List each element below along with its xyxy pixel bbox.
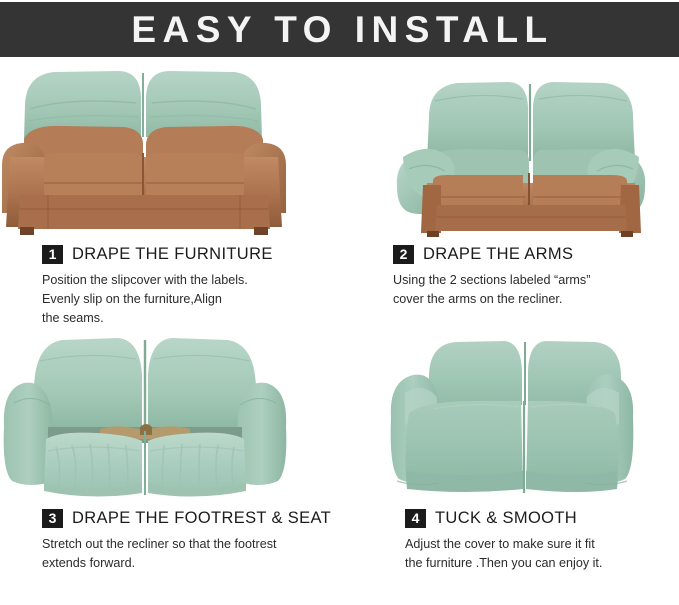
step-1-body: Position the slipcover with the labels. … xyxy=(42,271,381,328)
step-4-title: TUCK & SMOOTH xyxy=(435,509,577,528)
step-2-badge: 2 xyxy=(393,245,414,264)
step-3-body: Stretch out the recliner so that the foo… xyxy=(42,535,381,573)
step-1-title: DRAPE THE FURNITURE xyxy=(72,245,273,264)
step-2-title: DRAPE THE ARMS xyxy=(423,245,573,264)
step-2-heading: 2 DRAPE THE ARMS xyxy=(393,243,679,265)
recliner-fully-mint-draped-footrest-svg xyxy=(0,331,290,501)
step-1: 1 DRAPE THE FURNITURE Position the slipc… xyxy=(0,57,381,331)
step-4-illustration xyxy=(381,331,679,501)
step-2-body: Using the 2 sections labeled “arms” cove… xyxy=(393,271,679,309)
steps-grid: 1 DRAPE THE FURNITURE Position the slipc… xyxy=(0,57,679,605)
step-4-body: Adjust the cover to make sure it fit the… xyxy=(405,535,679,573)
step-3-illustration xyxy=(0,331,381,501)
step-4-badge: 4 xyxy=(405,509,426,528)
step-4-heading: 4 TUCK & SMOOTH xyxy=(405,507,679,529)
recliner-fully-covered-smooth-mint-svg xyxy=(381,331,643,501)
step-1-illustration xyxy=(0,57,381,239)
step-1-badge: 1 xyxy=(42,245,63,264)
step-2: 2 DRAPE THE ARMS Using the 2 sections la… xyxy=(381,57,679,331)
step-1-caption: 1 DRAPE THE FURNITURE Position the slipc… xyxy=(0,243,381,328)
page-title: EASY TO INSTALL xyxy=(125,11,553,48)
step-2-caption: 2 DRAPE THE ARMS Using the 2 sections la… xyxy=(381,243,679,309)
infographic-page: EASY TO INSTALL xyxy=(0,0,679,605)
recliner-mint-back-and-arms-brown-seat-svg xyxy=(381,57,661,239)
step-4-caption: 4 TUCK & SMOOTH Adjust the cover to make… xyxy=(381,507,679,573)
step-4: 4 TUCK & SMOOTH Adjust the cover to make… xyxy=(381,331,679,605)
header-banner: EASY TO INSTALL xyxy=(0,2,679,57)
step-3-heading: 3 DRAPE THE FOOTREST & SEAT xyxy=(42,507,381,529)
recliner-brown-with-mint-backrests-svg xyxy=(0,57,290,239)
step-3-caption: 3 DRAPE THE FOOTREST & SEAT Stretch out … xyxy=(0,507,381,573)
step-3: 3 DRAPE THE FOOTREST & SEAT Stretch out … xyxy=(0,331,381,605)
step-3-badge: 3 xyxy=(42,509,63,528)
step-3-title: DRAPE THE FOOTREST & SEAT xyxy=(72,509,331,528)
step-1-heading: 1 DRAPE THE FURNITURE xyxy=(42,243,381,265)
step-2-illustration xyxy=(381,57,679,239)
